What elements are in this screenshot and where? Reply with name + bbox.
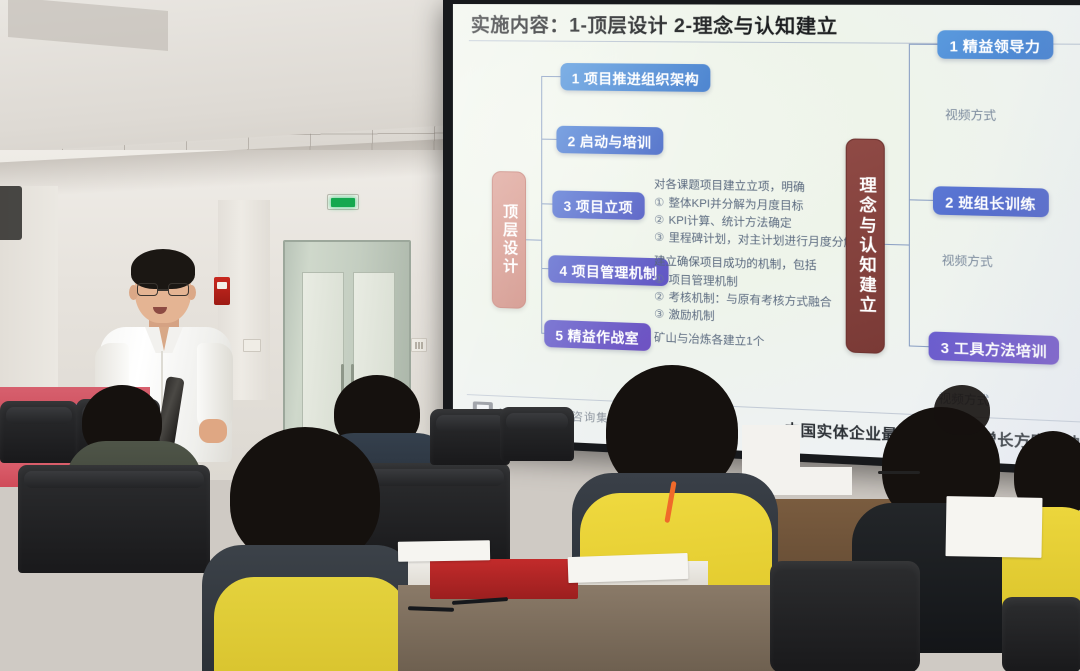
node-left-2[interactable]: 2 启动与培训 [556, 126, 662, 155]
connector-left-stem [526, 239, 542, 241]
connector-right-2 [909, 199, 934, 201]
connector-left-2 [541, 139, 557, 141]
node-right-2[interactable]: 2 班组长训练 [933, 186, 1048, 217]
chair-mid-3 [430, 409, 510, 465]
detail-item-text: 项目管理机制 [669, 274, 738, 289]
node-left-5[interactable]: 5 精益作战室 [544, 320, 650, 351]
detail-item-marker: ① [654, 271, 669, 289]
light-switch [243, 339, 261, 352]
node-left-4[interactable]: 4 项目管理机制 [548, 255, 669, 286]
foreground-audience-area [0, 371, 1080, 671]
detail-item-marker: ③ [654, 306, 669, 324]
red-folder [430, 559, 578, 599]
connector-right-3 [909, 345, 930, 347]
audience-person-7 [930, 385, 1000, 455]
detail-block-2: 建立确保项目成功的机制，包括 ①项目管理机制 ②考核机制：与原有考核方式融合 ③… [654, 253, 832, 330]
chair-rear-1 [0, 401, 78, 463]
exit-sign [327, 194, 359, 210]
exit-sign-lamp [331, 198, 355, 207]
glasses-icon [878, 471, 920, 474]
detail-item-text: 激励机制 [669, 309, 715, 323]
detail-item-marker: ① [654, 195, 669, 213]
audience-head [934, 385, 990, 435]
connector-right-spine [909, 44, 911, 347]
audience-torso [214, 577, 408, 671]
connector-left-spine [541, 76, 542, 334]
caption-right-2: 视频方式 [942, 252, 993, 270]
detail-block-3: 矿山与冶炼各建立1个 [654, 330, 764, 352]
connector-right-stem [885, 244, 910, 246]
ceiling-air-vent [8, 0, 168, 51]
node-right-3[interactable]: 3 工具方法培训 [929, 331, 1060, 365]
wall-vent [0, 186, 22, 240]
detail-item-marker: ② [654, 212, 669, 230]
node-left-3[interactable]: 3 项目立项 [552, 190, 644, 220]
connector-right-1 [909, 44, 939, 46]
handout-paper-2 [398, 540, 490, 562]
detail-item-text: 里程碑计划，对主计划进行月度分解 [669, 232, 856, 249]
connector-left-1 [541, 76, 561, 78]
chair-mid-1 [18, 465, 210, 573]
detail-item-marker: ③ [654, 230, 669, 248]
node-left-1[interactable]: 1 项目推进组织架构 [560, 63, 710, 92]
wall-socket [411, 338, 427, 352]
chair-front-right [770, 561, 920, 671]
handout-paper-3 [945, 496, 1042, 558]
presentation-room-photo: 实施内容：1-顶层设计 2-理念与认知建立 顶层设计 1 项目推进组织架构 2 … [0, 0, 1080, 671]
detail-block-1-item-3: ③里程碑计划，对主计划进行月度分解 [654, 230, 855, 253]
node-right-1[interactable]: 1 精益领导力 [937, 30, 1052, 59]
group-label-top-level-design: 顶层设计 [492, 171, 526, 309]
detail-item-text: 整体KPI并分解为月度目标 [669, 197, 804, 213]
glasses-icon [137, 283, 189, 296]
slide-title: 实施内容：1-顶层设计 2-理念与认知建立 [471, 10, 838, 39]
handout-paper-1 [568, 553, 689, 583]
group-label-concept-and-awareness: 理念与认知建立 [846, 138, 885, 354]
caption-right-1: 视频方式 [945, 106, 996, 124]
detail-item-text: KPI计算、统计方法确定 [669, 215, 792, 230]
detail-item-text: 考核机制：与原有考核方式融合 [669, 291, 832, 309]
chair-front-far-right [1002, 597, 1080, 671]
detail-item-marker: ② [654, 289, 669, 307]
audience-person-3 [192, 427, 422, 671]
detail-block-1: 对各课题项目建立立项，明确 ①整体KPI并分解为月度目标 ②KPI计算、统计方法… [654, 176, 855, 252]
